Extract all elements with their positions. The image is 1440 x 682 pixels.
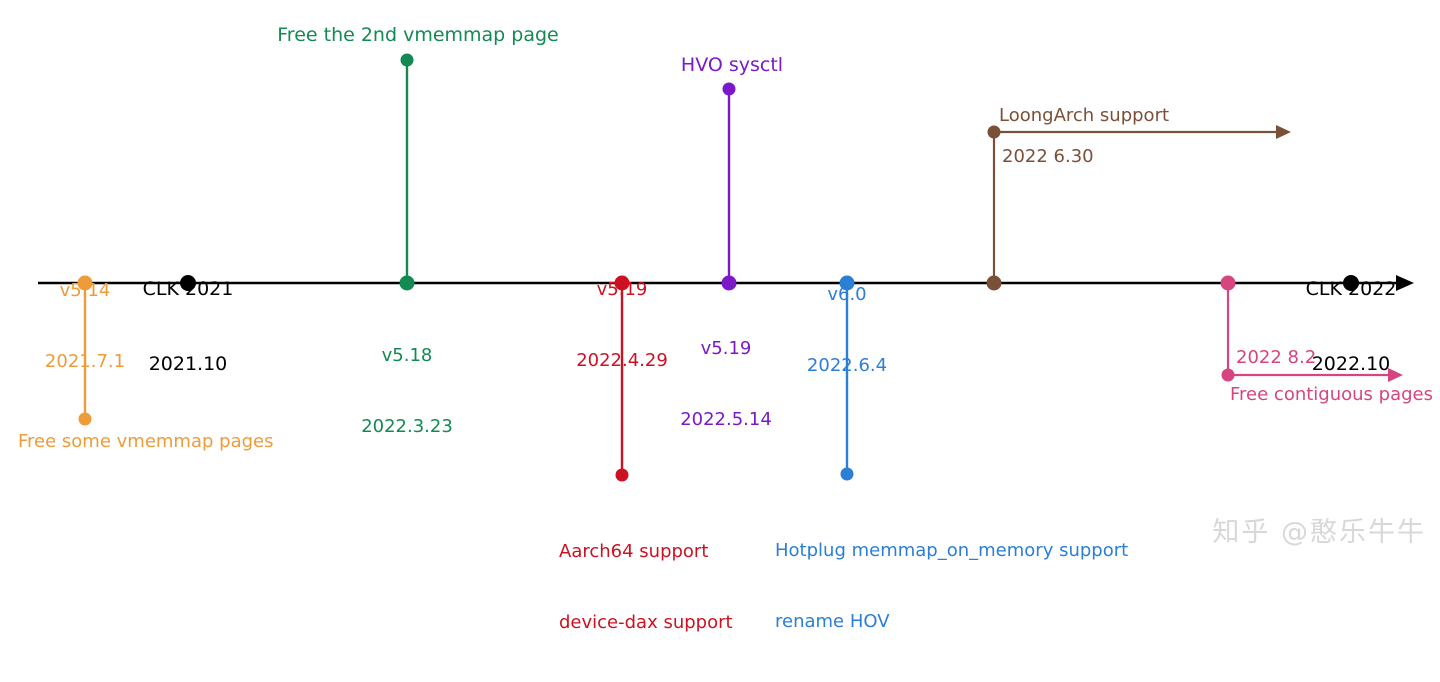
milestone-date-v519-purple: 2022.5.14 [680, 408, 772, 432]
branch-end-dot-v60 [841, 468, 854, 481]
aarch64-support-line2: device-dax support [559, 611, 733, 635]
hotplug-line1: Hotplug memmap_on_memory support [775, 539, 1128, 563]
milestone-label-v518: v5.18 2022.3.23 [361, 296, 453, 486]
milestone-date-v60: 2022.6.4 [807, 354, 887, 378]
milestone-version-clk2022: CLK 2022 [1306, 277, 1397, 302]
hotplug-line2: rename HOV [775, 610, 1128, 634]
milestone-version-v519-purple: v5.19 [680, 337, 772, 361]
branch-corner-dot-free-contiguous [1222, 369, 1235, 382]
milestone-date-v518: 2022.3.23 [361, 415, 453, 439]
branch-date-loongarch: 2022 6.30 [1002, 145, 1094, 169]
branch-label-loongarch-support: LoongArch support [999, 104, 1169, 128]
milestone-label-v60: v6.0 2022.6.4 [807, 235, 887, 425]
branch-end-dot-v519-purple [723, 83, 736, 96]
milestone-label-v519-red: v5.19 2022.4.29 [576, 230, 668, 420]
milestone-date-v519-red: 2022.4.29 [576, 349, 668, 373]
branch-label-free-the-2nd-vmemmap-page: Free the 2nd vmemmap page [277, 23, 558, 48]
milestone-version-v60: v6.0 [807, 283, 887, 307]
milestone-label-clk2022: CLK 2022 2022.10 [1306, 227, 1397, 428]
branch-end-dot-v518 [401, 54, 414, 67]
axis-dot-free-contiguous[interactable] [1221, 276, 1236, 291]
milestone-label-v519-purple: v5.19 2022.5.14 [680, 289, 772, 479]
main-axis-arrowhead [1396, 275, 1414, 291]
axis-dot-v518[interactable] [400, 276, 415, 291]
axis-dot-loongarch[interactable] [987, 276, 1002, 291]
milestone-date-clk2021: 2021.10 [143, 352, 234, 377]
milestone-label-v514: v5.14 2021.7.1 [45, 231, 125, 421]
branch-end-dot-v519-red [616, 469, 629, 482]
aarch64-support-line1: Aarch64 support [559, 540, 733, 564]
milestone-version-v518: v5.18 [361, 344, 453, 368]
branch-label-free-some-vmemmap-pages: Free some vmemmap pages [18, 430, 273, 454]
milestone-version-clk2021: CLK 2021 [143, 277, 234, 302]
branch-label-hvo-sysctl: HVO sysctl [681, 53, 783, 78]
branch-arrowhead-loongarch [1276, 125, 1291, 139]
branch-date-free-contiguous: 2022 8.2 [1236, 346, 1316, 370]
watermark: 知乎 @憨乐牛牛 [1212, 510, 1426, 549]
milestone-date-v514: 2021.7.1 [45, 350, 125, 374]
branch-label-hotplug-memmap: Hotplug memmap_on_memory support rename … [775, 491, 1128, 681]
branch-label-aarch64-support: Aarch64 support device-dax support [559, 492, 733, 682]
milestone-version-v519-red: v5.19 [576, 278, 668, 302]
milestone-version-v514: v5.14 [45, 279, 125, 303]
milestone-label-clk2021: CLK 2021 2021.10 [143, 227, 234, 428]
timeline-diagram: v5.14 2021.7.1 CLK 2021 2021.10 Free the… [0, 0, 1440, 571]
milestone-date-clk2022: 2022.10 [1306, 352, 1397, 377]
